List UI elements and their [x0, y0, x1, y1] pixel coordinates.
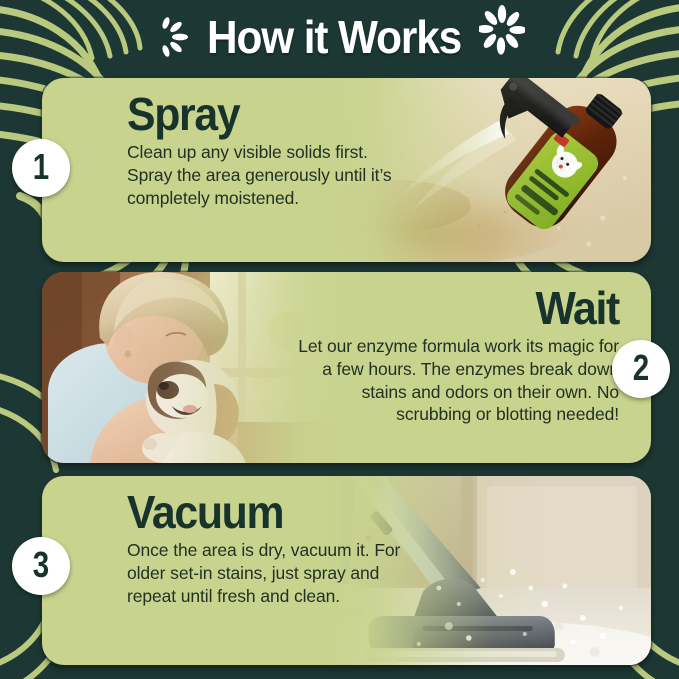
- step-number: 3: [33, 547, 49, 583]
- step-text-vacuum: Vacuum Once the area is dry, vacuum it. …: [127, 490, 417, 607]
- step-body: Clean up any visible solids first. Spray…: [127, 141, 417, 209]
- sparkle-burst-icon: [154, 17, 188, 57]
- step-body: Once the area is dry, vacuum it. For old…: [127, 539, 417, 607]
- step-title: Vacuum: [127, 490, 397, 535]
- step-title: Spray: [127, 92, 397, 137]
- infographic-root: How it Works: [0, 0, 679, 679]
- step-card-vacuum: Vacuum Once the area is dry, vacuum it. …: [42, 476, 651, 665]
- step-card-wait: Wait Let our enzyme formula work its mag…: [42, 272, 651, 463]
- page-header: How it Works: [0, 0, 679, 74]
- page-title: How it Works: [207, 14, 461, 60]
- step-text-wait: Wait Let our enzyme formula work its mag…: [289, 286, 619, 426]
- step-number: 2: [633, 350, 649, 386]
- sparkle-burst-icon: [479, 5, 525, 55]
- step-title: Wait: [312, 286, 619, 331]
- step-text-spray: Spray Clean up any visible solids first.…: [127, 92, 417, 209]
- step-number-badge-1: 1: [12, 139, 70, 197]
- step-number-badge-3: 3: [12, 537, 70, 595]
- step-body: Let our enzyme formula work its magic fo…: [289, 335, 619, 426]
- step-card-spray: Spray Clean up any visible solids first.…: [42, 78, 651, 262]
- step-number-badge-2: 2: [612, 340, 670, 398]
- step-number: 1: [33, 149, 49, 185]
